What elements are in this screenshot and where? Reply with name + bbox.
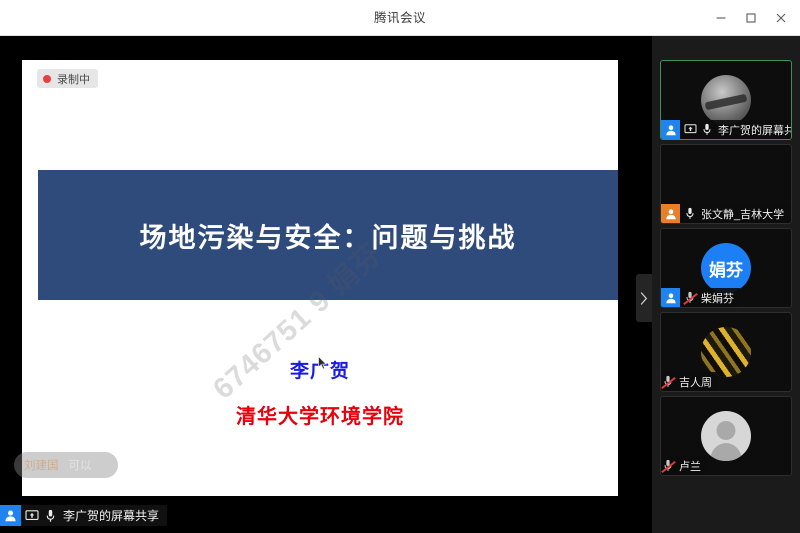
recording-dot-icon: [43, 75, 51, 83]
presenter-name-label: 李广贺的屏幕共享: [63, 507, 159, 524]
recording-badge: 录制中: [37, 69, 98, 88]
presenter-name-strip: 李广贺的屏幕共享: [0, 505, 167, 526]
participant-label: 吉人周: [661, 372, 718, 391]
recording-label: 录制中: [57, 71, 90, 87]
avatar-video-thumbnail: [701, 75, 751, 125]
person-icon: [661, 204, 680, 223]
meeting-window: 腾讯会议 场地污染与安全：问题与挑战: [0, 0, 800, 533]
participant-label: 张文静_吉林大学: [661, 204, 790, 223]
participant-tile[interactable]: 李广贺的屏幕共享: [660, 60, 792, 140]
participant-name: 张文静_吉林大学: [701, 206, 784, 222]
slide-affiliation: 清华大学环境学院: [22, 400, 618, 429]
mic-icon: [683, 207, 697, 221]
window-title: 腾讯会议: [0, 0, 800, 36]
person-icon: [661, 120, 680, 139]
avatar: [701, 327, 751, 377]
shared-slide: 场地污染与安全：问题与挑战 李广贺 清华大学环境学院 6746751 9 娟芬: [22, 60, 618, 496]
avatar: [701, 411, 751, 461]
chat-message-text: 可以: [69, 457, 92, 473]
mic-muted-icon: [661, 459, 675, 473]
participant-name: 柴娟芬: [701, 290, 734, 306]
chevron-right-icon: [640, 292, 648, 305]
participant-tile[interactable]: 吉人周: [660, 312, 792, 392]
slide-title: 场地污染与安全：问题与挑战: [38, 170, 618, 300]
screen-share-icon: [683, 123, 697, 137]
mic-muted-icon: [661, 375, 675, 389]
chat-message-toast[interactable]: 刘建国 可以: [14, 452, 118, 478]
avatar-placeholder-icon: [701, 411, 751, 461]
participant-label: 柴娟芬: [661, 288, 740, 307]
avatar-initials: 娟芬: [701, 243, 751, 293]
person-icon: [0, 505, 21, 526]
slide-author: 李广贺: [22, 356, 618, 383]
title-bar: 腾讯会议: [0, 0, 800, 36]
participant-label: 卢兰: [661, 456, 707, 475]
avatar: 娟芬: [701, 243, 751, 293]
screen-share-icon: [25, 509, 39, 523]
window-controls: [706, 0, 796, 36]
chat-sender-name: 刘建国: [24, 457, 59, 473]
mic-muted-icon: [683, 291, 697, 305]
participant-label: 李广贺的屏幕共享: [661, 120, 792, 139]
participant-tile[interactable]: 娟芬 柴娟芬: [660, 228, 792, 308]
minimize-button[interactable]: [706, 5, 736, 31]
close-button[interactable]: [766, 5, 796, 31]
participant-name: 卢兰: [679, 458, 701, 474]
avatar-image: [701, 327, 751, 377]
avatar: [701, 75, 751, 125]
shared-screen-stage[interactable]: 场地污染与安全：问题与挑战 李广贺 清华大学环境学院 6746751 9 娟芬 …: [0, 36, 652, 533]
participant-name: 吉人周: [679, 374, 712, 390]
participant-tile[interactable]: 卢兰: [660, 396, 792, 476]
mic-icon: [43, 509, 57, 523]
person-icon: [661, 288, 680, 307]
sidebar-collapse-button[interactable]: [636, 274, 652, 322]
participant-tile[interactable]: 张文静_吉林大学: [660, 144, 792, 224]
maximize-button[interactable]: [736, 5, 766, 31]
mic-icon: [700, 123, 714, 137]
participant-sidebar: 李广贺的屏幕共享 张文静_吉林大学: [652, 36, 800, 533]
participant-name: 李广贺的屏幕共享: [718, 122, 792, 138]
